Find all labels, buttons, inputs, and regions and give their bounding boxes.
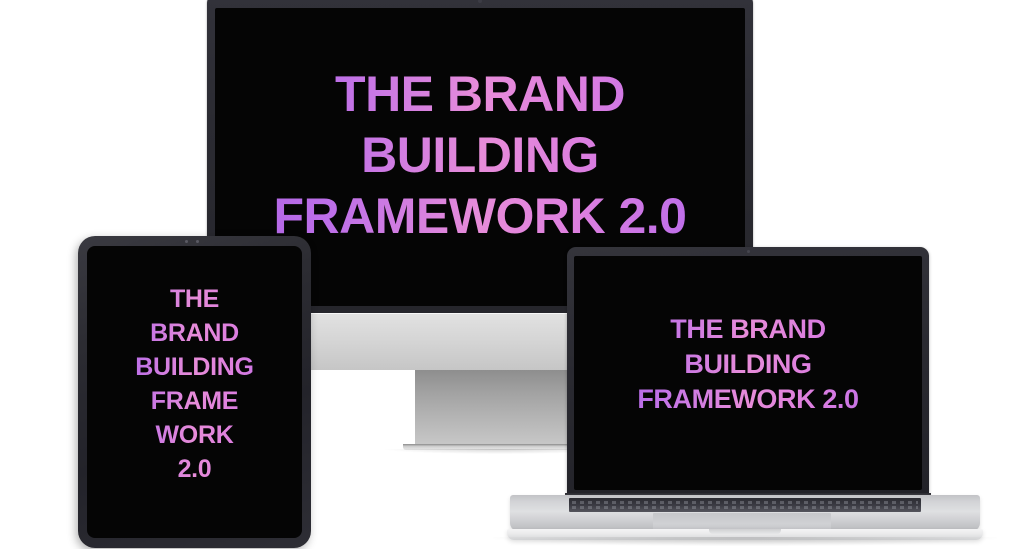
monitor-headline-line-1: THE BRAND (215, 64, 745, 125)
laptop-headline-line-1: THE BRAND (574, 312, 922, 347)
laptop-screen: THE BRAND BUILDING FRAMEWORK 2.0 (574, 256, 922, 490)
laptop-lid-notch (709, 529, 781, 534)
tablet-headline-line-1: THE (87, 282, 302, 316)
tablet-screen-headline: THE BRAND BUILDING FRAME WORK 2.0 (87, 282, 302, 486)
laptop-headline-line-3: FRAMEWORK 2.0 (574, 382, 922, 417)
tablet-headline-line-5: WORK (87, 418, 302, 452)
tablet: THE BRAND BUILDING FRAME WORK 2.0 (78, 236, 311, 548)
tablet-sensor-icon (196, 240, 199, 243)
laptop-headline-line-2: BUILDING (574, 347, 922, 382)
device-mockup-stage: THE BRAND BUILDING FRAMEWORK 2.0 THE BRA… (0, 0, 1024, 549)
monitor-headline-line-2: BUILDING (215, 125, 745, 186)
keyboard-row (572, 501, 918, 504)
tablet-headline-line-6: 2.0 (87, 452, 302, 486)
monitor-camera-icon (478, 0, 482, 3)
laptop-screen-headline: THE BRAND BUILDING FRAMEWORK 2.0 (574, 312, 922, 417)
laptop: THE BRAND BUILDING FRAMEWORK 2.0 (505, 247, 985, 543)
laptop-keyboard (569, 498, 921, 512)
keyboard-row (572, 506, 918, 509)
tablet-camera-icon (185, 240, 188, 243)
tablet-headline-line-3: BUILDING (87, 350, 302, 384)
tablet-screen: THE BRAND BUILDING FRAME WORK 2.0 (87, 246, 302, 538)
monitor-screen-headline: THE BRAND BUILDING FRAMEWORK 2.0 (215, 64, 745, 247)
laptop-camera-icon (747, 250, 750, 253)
tablet-headline-line-2: BRAND (87, 316, 302, 350)
laptop-shadow (493, 537, 997, 546)
laptop-lid: THE BRAND BUILDING FRAMEWORK 2.0 (567, 247, 929, 499)
tablet-headline-line-4: FRAME (87, 384, 302, 418)
